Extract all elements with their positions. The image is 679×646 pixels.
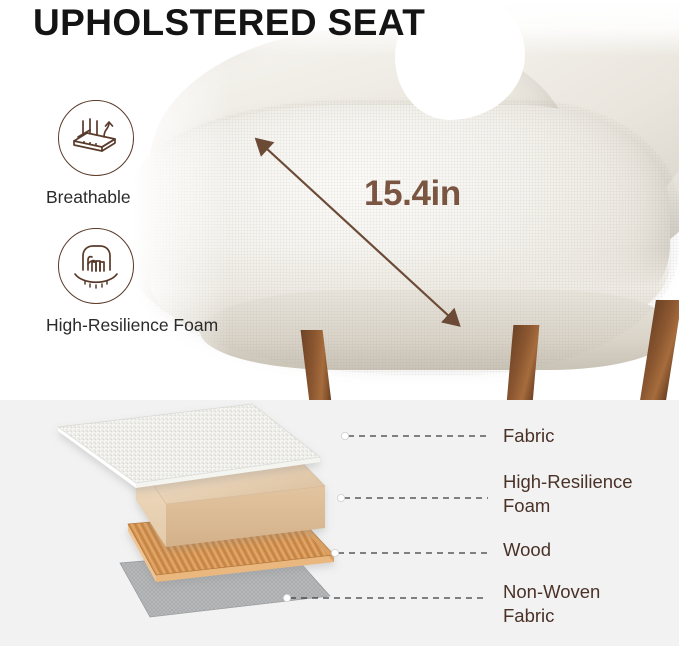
- callout-label-non-woven-fabric: Non-Woven Fabric: [503, 580, 600, 628]
- seat-width-dimension: 15.4in: [364, 174, 461, 214]
- callout-label-fabric: Fabric: [503, 424, 554, 448]
- callout-dot-fabric: [341, 432, 348, 439]
- upholstered-seat-section: 15.4in UPHOLSTERED SEAT: [0, 0, 679, 400]
- callout-dot-wood: [331, 549, 338, 556]
- callout-label-high-resilience-foam: High-Resilience Foam: [503, 470, 633, 518]
- callout-dot-nonwoven: [283, 594, 290, 601]
- page-title: UPHOLSTERED SEAT: [33, 2, 425, 44]
- feature-label-high-resilience-foam: High-Resilience Foam: [46, 314, 236, 337]
- product-infographic: 15.4in UPHOLSTERED SEAT: [0, 0, 679, 646]
- breathable-fabric-icon: [58, 100, 134, 176]
- hand-pressing-foam-icon: [58, 228, 134, 304]
- chair-leg-front-right: [507, 325, 540, 400]
- feature-label-breathable: Breathable: [46, 186, 236, 209]
- callout-dot-foam: [337, 494, 344, 501]
- callout-label-wood: Wood: [503, 538, 551, 562]
- construction-layers-section: Fabric High-Resilience Foam Wood Non-Wov…: [0, 400, 679, 646]
